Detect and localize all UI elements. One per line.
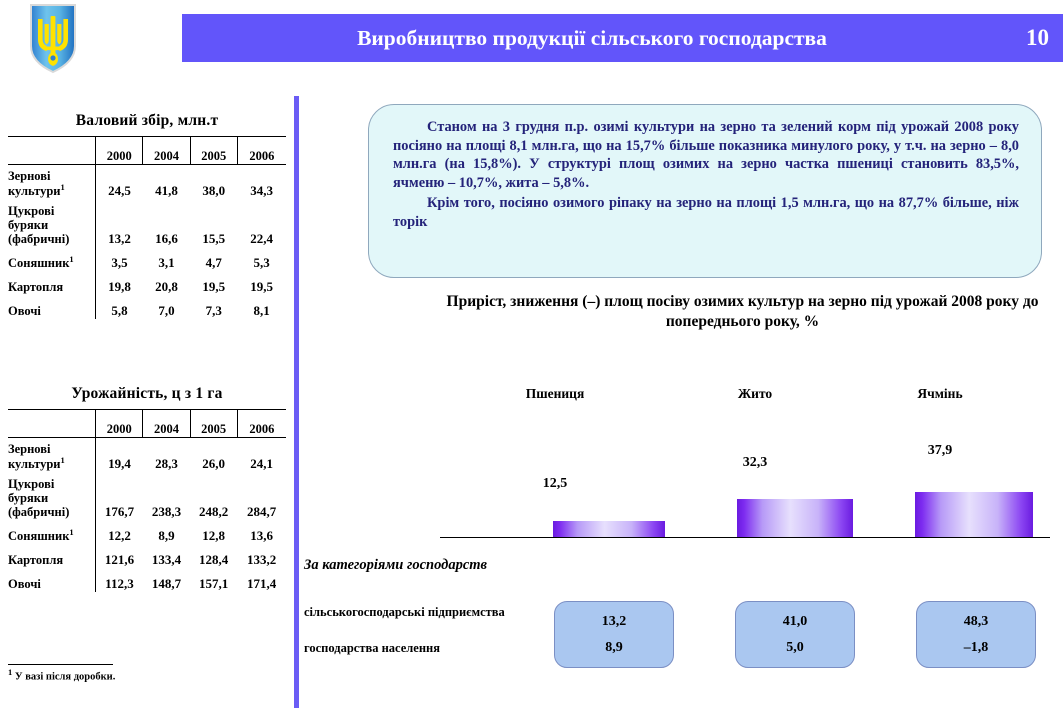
yield-table: 2000 2004 2005 2006 Зернові культури1 19… [8,409,286,592]
table-cell: 38,0 [190,165,237,199]
table-cell: 121,6 [96,544,143,568]
table-title: Валовий збір, млн.т [8,112,286,130]
table-cell: 157,1 [190,568,237,592]
table-cell: 16,6 [143,199,190,247]
table-cell: 13,2 [96,199,143,247]
page-number: 10 [1026,14,1049,62]
bar-value-label: 32,3 [675,455,835,471]
chart-bar [553,521,665,537]
table-cell: 3,1 [143,247,190,271]
table-cell: 19,5 [190,271,237,295]
table-cell: 24,5 [96,165,143,199]
category-value-box-barley: 48,3 –1,8 [916,601,1036,668]
info-callout-box: Станом на 3 грудня п.р. озимі культури н… [368,104,1042,278]
row-label: Картопля [8,553,63,567]
table-cell: 19,8 [96,271,143,295]
chart-category-label: Пшениця [475,386,635,402]
table-cell: 28,3 [143,438,190,472]
table-header-cell: 2004 [143,137,190,165]
table-cell: 19,4 [96,438,143,472]
table-row: Зернові культури1 24,5 41,8 38,0 34,3 [8,165,286,199]
row-label-footnote-marker: 1 [61,455,65,465]
table-cell: 176,7 [96,472,143,520]
gross-harvest-table-block: Валовий збір, млн.т 2000 2004 2005 2006 … [8,112,286,319]
table-cell: 24,1 [237,438,286,472]
table-cell: 8,9 [143,520,190,544]
table-row: Цукрові буряки (фабричні) 176,7 238,3 24… [8,472,286,520]
table-header-cell [8,410,96,438]
row-label: Соняшник [8,529,69,543]
table-header-row: 2000 2004 2005 2006 [8,410,286,438]
table-cell: 13,6 [237,520,286,544]
row-label: Овочі [8,304,41,318]
table-row: Овочі 5,8 7,0 7,3 8,1 [8,295,286,319]
table-cell: 7,0 [143,295,190,319]
slide-header-bar: Виробництво продукції сільського господа… [182,14,1063,62]
table-row: Картопля 19,8 20,8 19,5 19,5 [8,271,286,295]
row-label: Зернові культури [8,169,61,198]
enterprises-value: 41,0 [783,615,808,629]
households-value: 8,9 [605,641,623,655]
table-cell: 128,4 [190,544,237,568]
table-cell: 284,7 [237,472,286,520]
table-cell: 4,7 [190,247,237,271]
row-label: Овочі [8,577,41,591]
table-cell: 8,1 [237,295,286,319]
category-value-box-wheat: 13,2 8,9 [554,601,674,668]
chart-category-label: Жито [675,386,835,402]
table-cell: 3,5 [96,247,143,271]
table-cell: 26,0 [190,438,237,472]
yield-table-block: Урожайність, ц з 1 га 2000 2004 2005 200… [8,385,286,592]
table-row: Соняшник1 12,2 8,9 12,8 13,6 [8,520,286,544]
category-value-box-rye: 41,0 5,0 [735,601,855,668]
table-header-cell: 2000 [96,137,143,165]
footnote-text-line: 1 У вазі після доробки. [8,667,208,683]
chart-bar [737,499,853,537]
table-header-cell: 2004 [143,410,190,438]
table-header-cell [8,137,96,165]
table-header-cell: 2006 [237,410,286,438]
table-cell: 19,5 [237,271,286,295]
table-header-cell: 2005 [190,410,237,438]
table-row: Овочі 112,3 148,7 157,1 171,4 [8,568,286,592]
row-label-footnote-marker: 1 [69,527,73,537]
table-cell: 5,8 [96,295,143,319]
chart-category-label: Ячмінь [860,386,1020,402]
row-label: Цукрові буряки (фабричні) [8,477,69,520]
callout-paragraph: Станом на 3 грудня п.р. озимі культури н… [393,118,1019,193]
table-cell: 15,5 [190,199,237,247]
row-label: Картопля [8,280,63,294]
callout-paragraph: Крім того, посіяно озимого ріпаку на зер… [393,194,1019,231]
table-cell: 133,2 [237,544,286,568]
households-value: –1,8 [964,641,989,655]
table-row: Цукрові буряки (фабричні) 13,2 16,6 15,5… [8,199,286,247]
table-cell: 238,3 [143,472,190,520]
table-cell: 20,8 [143,271,190,295]
table-row: Картопля 121,6 133,4 128,4 133,2 [8,544,286,568]
bar-value-label: 12,5 [475,476,635,492]
chart-title: Приріст, зниження (–) площ посіву озимих… [430,292,1055,333]
table-cell: 148,7 [143,568,190,592]
footnote-rule [8,664,113,665]
enterprises-value: 13,2 [602,615,627,629]
row-label: Зернові культури [8,442,61,471]
row-label-footnote-marker: 1 [69,254,73,264]
bar-chart: Пшениця Жито Ячмінь 12,5 32,3 37,9 [440,380,1050,545]
gross-harvest-table: 2000 2004 2005 2006 Зернові культури1 24… [8,136,286,319]
category-row-label-households: господарства населення [304,641,514,656]
enterprises-value: 48,3 [964,615,989,629]
bar-value-label: 37,9 [860,443,1020,459]
row-label: Цукрові буряки (фабричні) [8,204,69,247]
footnote-text: У вазі після доробки. [15,672,115,683]
table-header-row: 2000 2004 2005 2006 [8,137,286,165]
table-cell: 22,4 [237,199,286,247]
table-cell: 112,3 [96,568,143,592]
table-cell: 248,2 [190,472,237,520]
households-value: 5,0 [786,641,804,655]
footnote: 1 У вазі після доробки. [8,664,208,683]
table-cell: 41,8 [143,165,190,199]
row-label: Соняшник [8,256,69,270]
categories-heading: За категоріями господарств [304,556,494,574]
table-cell: 12,2 [96,520,143,544]
page-title: Виробництво продукції сільського господа… [182,14,1002,62]
table-row: Соняшник1 3,5 3,1 4,7 5,3 [8,247,286,271]
row-label-footnote-marker: 1 [61,182,65,192]
table-header-cell: 2006 [237,137,286,165]
chart-baseline-axis [440,537,1050,538]
table-cell: 7,3 [190,295,237,319]
table-cell: 5,3 [237,247,286,271]
vertical-divider [294,96,299,708]
ukraine-coat-of-arms-icon [28,2,78,74]
table-row: Зернові культури1 19,4 28,3 26,0 24,1 [8,438,286,472]
table-header-cell: 2005 [190,137,237,165]
table-cell: 171,4 [237,568,286,592]
chart-bar [915,492,1033,537]
table-cell: 34,3 [237,165,286,199]
footnote-marker: 1 [8,667,12,677]
table-cell: 12,8 [190,520,237,544]
table-header-cell: 2000 [96,410,143,438]
category-row-label-enterprises: сільськогосподарські підприємства [304,605,514,619]
table-cell: 133,4 [143,544,190,568]
table-title: Урожайність, ц з 1 га [8,385,286,403]
